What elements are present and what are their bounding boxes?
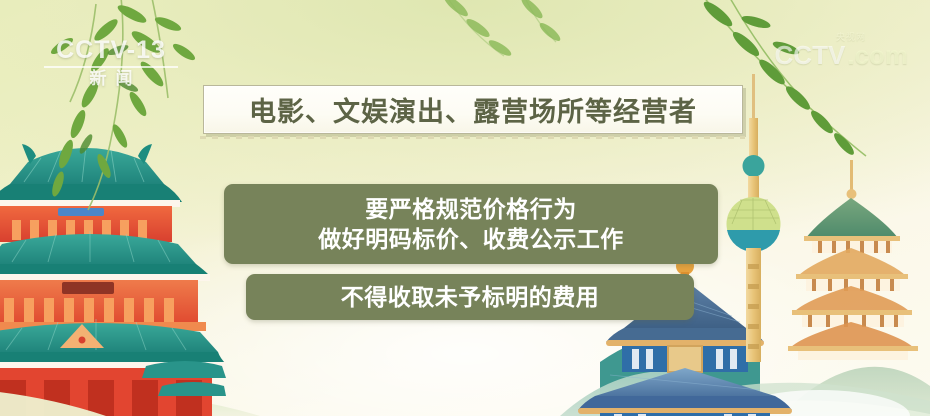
cctv-com-watermark: 央视网 CCTV .com <box>775 40 908 71</box>
watermark-brand: CCTV <box>775 40 846 71</box>
channel-logo-subtitle: 新闻 <box>36 70 186 89</box>
cctv13-channel-logo: CCTV-13 新闻 <box>36 38 186 89</box>
statement-line: 不得收取未予标明的费用 <box>341 282 600 312</box>
statement-box-no-hidden-fees: 不得收取未予标明的费用 <box>246 274 694 320</box>
watermark-domain: .com <box>847 40 908 71</box>
headline-text: 电影、文娱演出、露营场所等经营者 <box>249 90 697 129</box>
statement-line: 要严格规范价格行为 <box>365 194 577 224</box>
statement-box-pricing: 要严格规范价格行为 做好明码标价、收费公示工作 <box>224 184 718 264</box>
channel-logo-mark: CCTV-13 <box>36 38 186 63</box>
statement-line: 做好明码标价、收费公示工作 <box>318 224 624 254</box>
headline-banner: 电影、文娱演出、露营场所等经营者 <box>203 85 743 134</box>
watermark-chinese-label: 央视网 <box>836 30 866 43</box>
news-broadcast-frame: CCTV-13 新闻 央视网 CCTV .com 电影、文娱演出、露营场所等经营… <box>0 0 930 416</box>
banner-dashed-underline <box>200 136 745 139</box>
channel-logo-rule <box>44 66 178 68</box>
